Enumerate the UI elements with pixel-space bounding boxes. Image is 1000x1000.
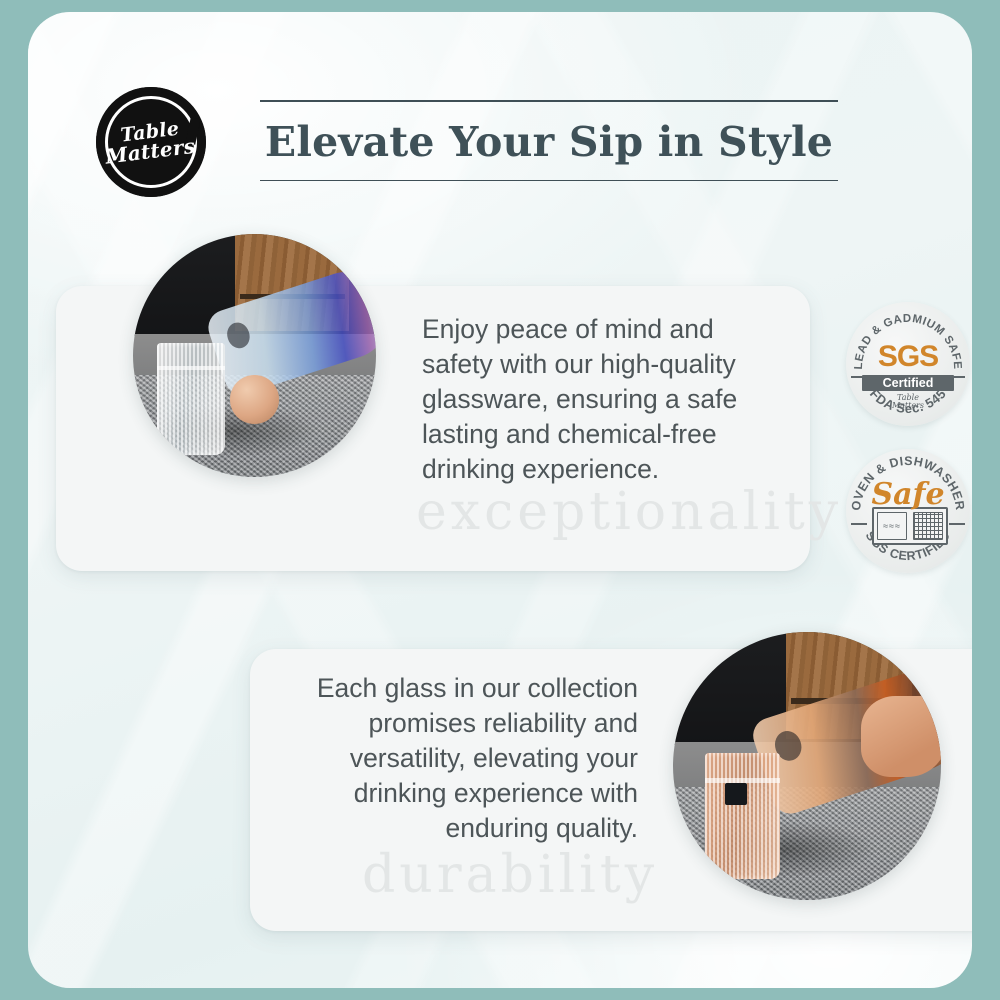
glass-band [157, 366, 225, 370]
photo-scene [673, 632, 941, 900]
sgs-lead-cadmium-safe-badge: LEAD & GADMIUM SAFE FDA Sec. 545 SGS Cer… [846, 302, 970, 426]
feature-1-watermark: exceptionality [416, 482, 842, 542]
oven-dash-right [949, 523, 965, 525]
header: Elevate Your Sip in Style [260, 100, 838, 181]
header-rule-top [260, 100, 838, 102]
feature-2-photo [673, 632, 941, 900]
oven-door: ≈≈≈ [877, 512, 907, 540]
scene-wooden-ball [230, 375, 279, 424]
sgs-brand-line-2: Matters [892, 401, 924, 410]
brand-logo: Table Matters [96, 87, 206, 197]
oven-dishwasher-icon: ≈≈≈ [872, 507, 948, 545]
oven-safe-wordmark: Safe [846, 477, 970, 512]
feature-1-body: Enjoy peace of mind and safety with our … [422, 312, 772, 487]
feature-1-photo [133, 234, 376, 477]
oven-dishwasher-safe-badge: OVEN & DISHWASHER SGS CERTIFIED Safe ≈≈≈ [846, 449, 970, 573]
poster-panel: Table Matters Elevate Your Sip in Style … [28, 12, 972, 988]
sgs-brand-mark: Table Matters [846, 394, 970, 410]
sgs-wordmark: SGS [878, 342, 938, 372]
scene-drinking-glass [157, 343, 225, 455]
page-title: Elevate Your Sip in Style [260, 118, 838, 166]
promo-poster: Table Matters Elevate Your Sip in Style … [0, 0, 1000, 1000]
feature-2-body: Each glass in our collection promises re… [298, 671, 638, 846]
scene-hand [861, 696, 941, 776]
oven-dash-left [851, 523, 867, 525]
feature-2-watermark: durability [362, 845, 658, 905]
scene-drinking-glass [705, 753, 780, 879]
glass-label [725, 783, 748, 806]
logo-wordmark: Table Matters [106, 118, 196, 166]
sgs-certified-ribbon: Certified [862, 375, 954, 391]
carafe-seal [224, 320, 254, 352]
header-rule-bottom [260, 180, 838, 182]
photo-scene [133, 234, 376, 477]
dishwasher-door [913, 512, 943, 540]
